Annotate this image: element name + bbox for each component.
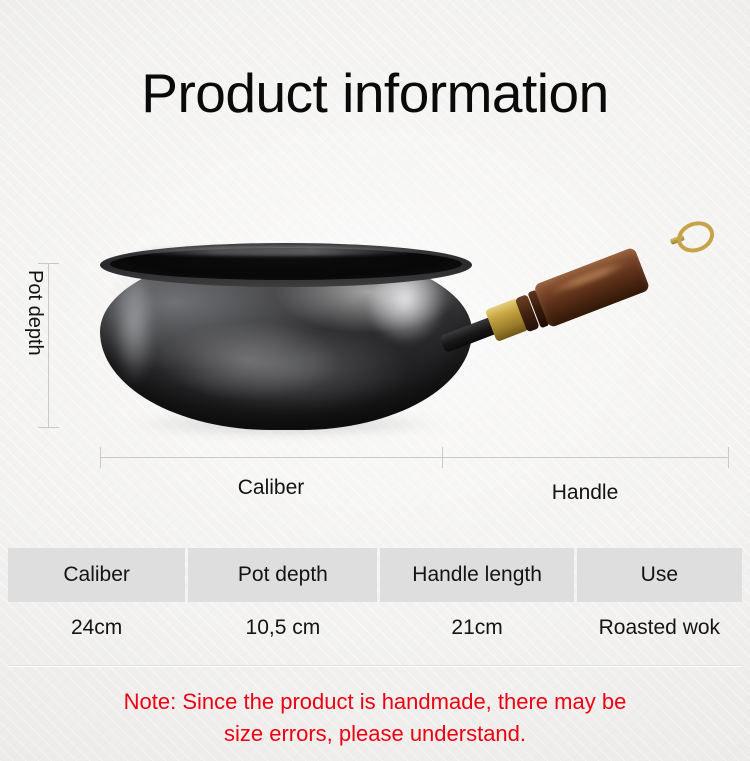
spec-header-pot-depth: Pot depth [188, 548, 377, 602]
pot-rim-highlight [128, 246, 428, 256]
pot-depth-cap-bottom [38, 427, 59, 428]
disclaimer-note-line-1: Note: Since the product is handmade, the… [0, 686, 750, 718]
caliber-label: Caliber [100, 476, 442, 500]
section-divider [8, 665, 742, 666]
spec-header-use: Use [577, 548, 742, 602]
width-measure-line [100, 457, 728, 458]
pot-highlight-center [180, 326, 410, 410]
disclaimer-note-line-2: size errors, please understand. [0, 718, 750, 750]
handle-label: Handle [442, 481, 728, 505]
pot-depth-cap-top [38, 263, 59, 264]
pot-depth-label: Pot depth [23, 270, 46, 420]
page-title: Product information [0, 63, 750, 123]
spec-value-handle-length: 21cm [380, 602, 573, 654]
product-information-page: Product information Pot depth Caliber Ha… [0, 0, 750, 761]
spec-table-header-row: Caliber Pot depth Handle length Use [8, 548, 742, 602]
width-cap-left [100, 447, 101, 468]
width-cap-right [728, 447, 729, 468]
pot-depth-measure-line [48, 263, 49, 427]
pot-handle [413, 142, 706, 366]
handle-wood-grip [533, 247, 650, 329]
spec-value-use: Roasted wok [577, 602, 742, 654]
spec-header-caliber: Caliber [8, 548, 185, 602]
product-photo [0, 130, 750, 450]
pot-highlight-left [112, 270, 152, 388]
width-cap-middle [442, 447, 443, 468]
disclaimer-note: Note: Since the product is handmade, the… [0, 686, 750, 750]
spec-header-handle-length: Handle length [380, 548, 573, 602]
spec-value-caliber: 24cm [8, 602, 185, 654]
spec-value-pot-depth: 10,5 cm [188, 602, 377, 654]
spec-table: Caliber Pot depth Handle length Use 24cm… [8, 548, 742, 654]
spec-table-value-row: 24cm 10,5 cm 21cm Roasted wok [8, 602, 742, 654]
